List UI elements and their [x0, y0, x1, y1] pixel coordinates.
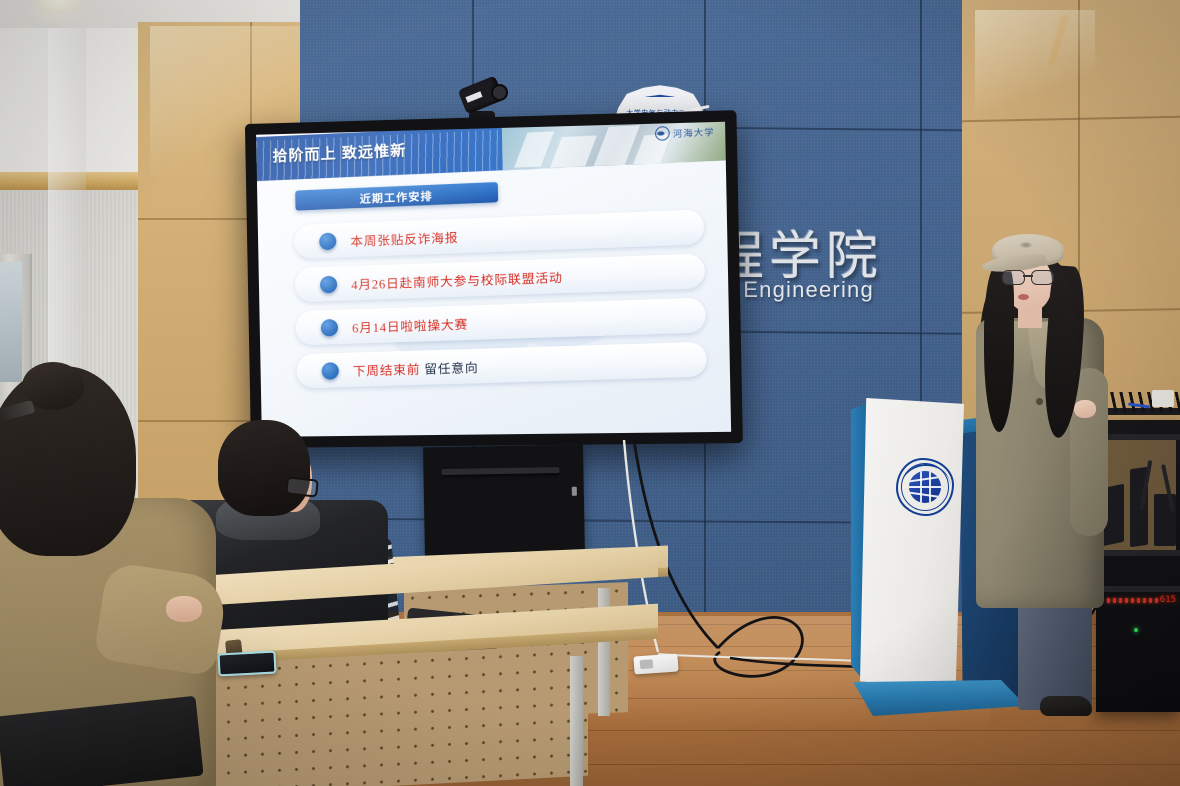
speaker-mouth: [1018, 294, 1029, 300]
student-middle-hair: [218, 420, 310, 516]
slide-section-title-bar: 近期工作安排: [295, 182, 498, 211]
smartphone-on-stand[interactable]: [217, 650, 276, 676]
ceiling-light: [36, 0, 80, 12]
slide-list-item: 本周张贴反诈海报: [294, 209, 705, 259]
student-front-hand: [166, 596, 202, 622]
presentation-slide: 拾阶而上 致远惟新 河海大学 近期工作安排 本周张贴反诈海报: [256, 122, 731, 437]
item-red-text: 本周张贴反诈海报: [350, 230, 458, 248]
podium-front-panel: [860, 398, 964, 690]
speaker-cap-logo: [1018, 241, 1034, 249]
desk-front-leg: [570, 656, 583, 786]
slide-item-list: 本周张贴反诈海报 4月26日赴南师大参与校际联盟活动 6月14日啦啦操大赛 下周…: [294, 213, 707, 395]
power-strip-socket: [640, 659, 654, 669]
av-equipment-rack: 615: [1096, 420, 1180, 712]
student-middle-glasses: [285, 476, 319, 497]
slide-list-item: 6月14日啦啦操大赛: [295, 298, 706, 346]
item-red-text: 6月14日啦啦操大赛: [352, 317, 468, 335]
slide-list-item: 4月26日赴南师大参与校际联盟活动: [295, 253, 706, 302]
wall-mounted-display[interactable]: 拾阶而上 致远惟新 河海大学 近期工作安排 本周张贴反诈海报: [245, 110, 743, 448]
door-glass-panel: [0, 262, 22, 382]
slide-section-title: 近期工作安排: [295, 185, 498, 210]
cabinet-button[interactable]: [572, 487, 577, 496]
speaker-glasses: [1002, 270, 1054, 283]
podium-university-logo: [896, 458, 954, 516]
display-screen[interactable]: 拾阶而上 致远惟新 河海大学 近期工作安排 本周张贴反诈海报: [256, 122, 731, 437]
item-red-text: 4月26日赴南师大参与校际联盟活动: [351, 270, 563, 292]
speaker-person: [966, 218, 1106, 722]
bullet-icon: [320, 275, 337, 293]
rack-display-value: 615: [1160, 595, 1176, 605]
rack-power-led: [1134, 628, 1138, 632]
item-dark-text: 留任意向: [424, 360, 479, 376]
bullet-icon: [321, 318, 338, 336]
slide-university-logo: 河海大学: [655, 124, 715, 141]
classroom-photo: 大学电气与动力工程 程学院 er Engineering 拾阶而上: [0, 0, 1180, 786]
slide-logo-text: 河海大学: [673, 124, 715, 139]
bullet-icon: [322, 362, 339, 380]
slide-list-item: 下周结束前 留任意向: [296, 342, 707, 389]
wall-outlet: [1152, 390, 1174, 407]
right-wood-gloss: [975, 10, 1095, 120]
cabinet-slot: [441, 467, 559, 475]
display-cabinet: [423, 445, 585, 560]
speaker-jeans: [1018, 590, 1092, 710]
power-strip: [633, 653, 678, 674]
speaker-shoe: [1040, 696, 1092, 716]
bullet-icon: [319, 232, 336, 250]
speaker-hand: [1074, 400, 1096, 418]
item-red-text: 下周结束前: [353, 362, 421, 378]
speaker-hair-left: [984, 266, 1014, 432]
speaker-coat-button: [1036, 398, 1043, 405]
hohai-logo-icon: [655, 126, 670, 141]
